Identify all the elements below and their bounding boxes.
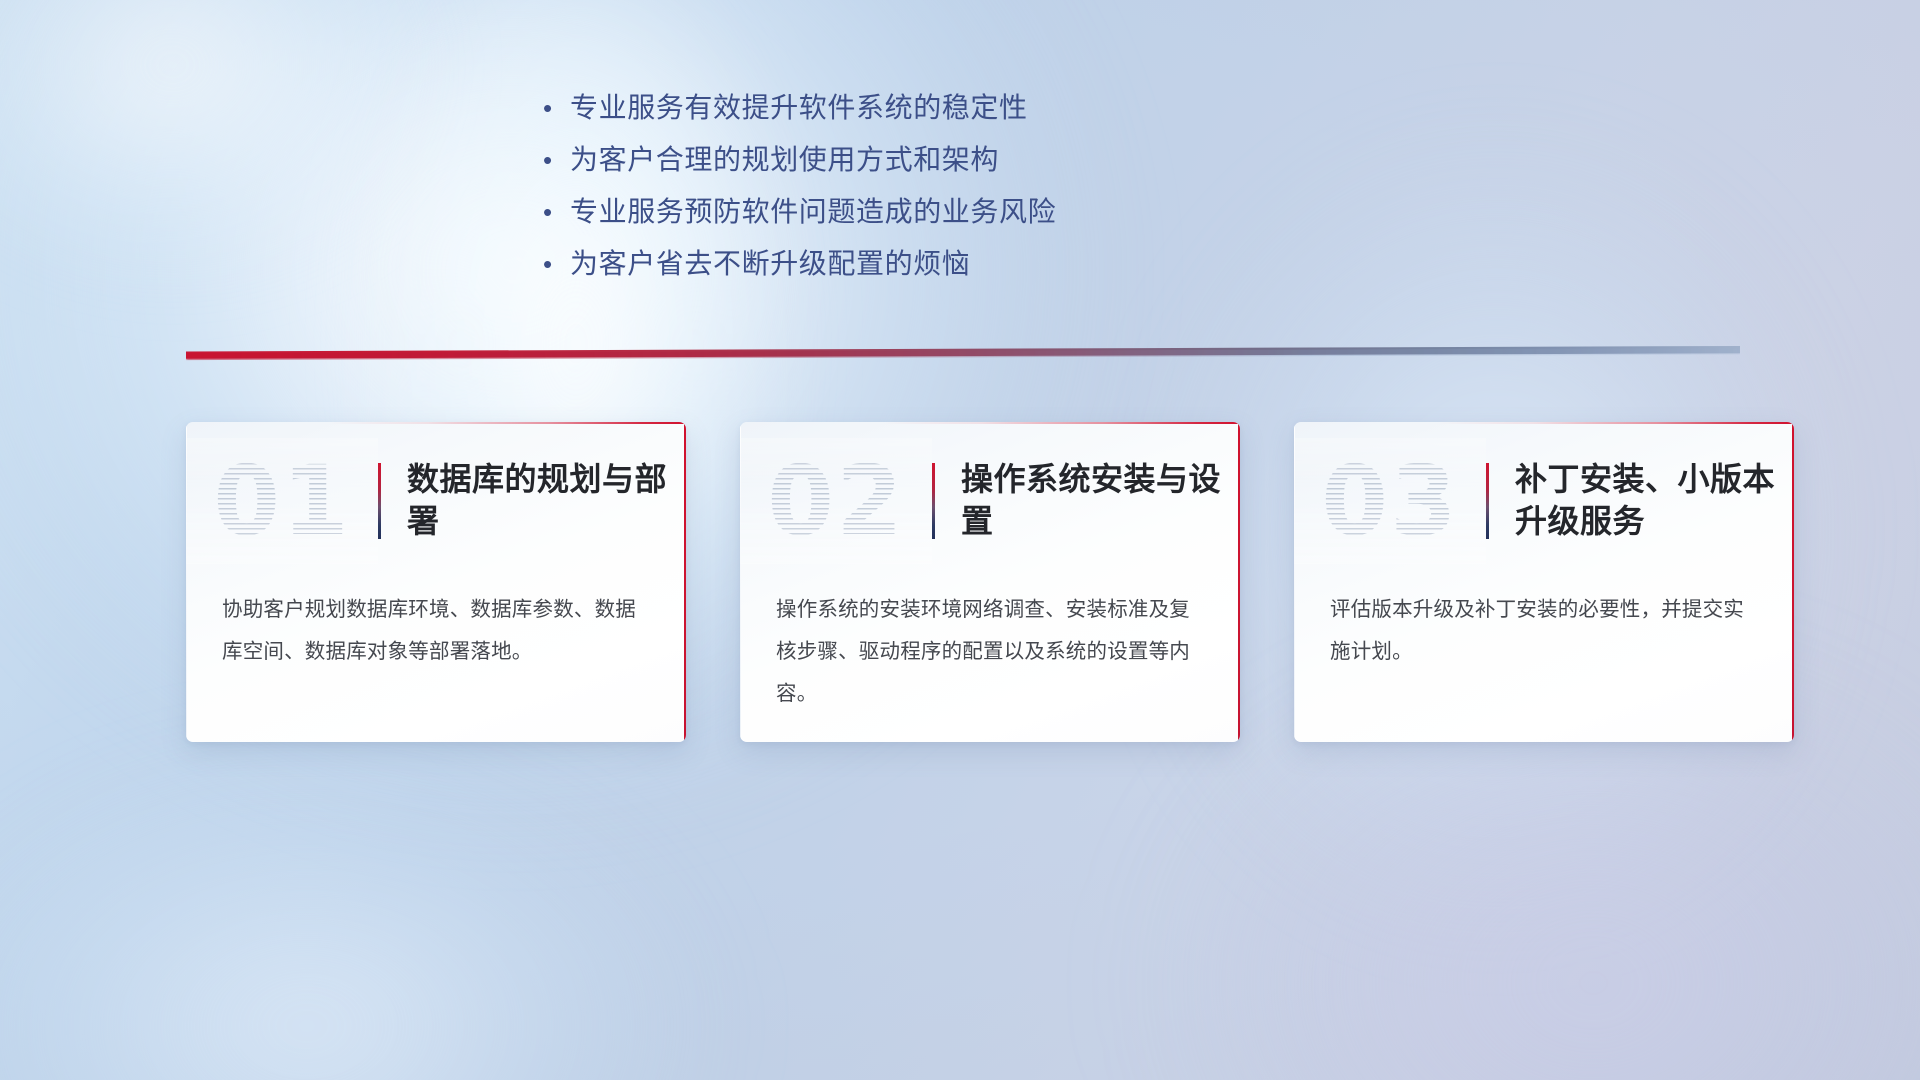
benefits-bullet-list: • 专业服务有效提升软件系统的稳定性 • 为客户合理的规划使用方式和架构 • 专… [536, 86, 1156, 294]
card-body-text: 操作系统的安装环境网络调查、安装标准及复核步骤、驱动程序的配置以及系统的设置等内… [776, 588, 1196, 715]
section-divider [186, 346, 1740, 362]
card-header: 03 补丁安装、小版本升级服务 [1294, 438, 1794, 564]
card-title-divider-bar [932, 463, 935, 539]
bullet-text: 为客户省去不断升级配置的烦恼 [570, 242, 970, 282]
card-body-text: 评估版本升级及补丁安装的必要性，并提交实施计划。 [1330, 588, 1750, 672]
card-top-accent-line [1434, 422, 1794, 424]
service-card-01[interactable]: 01 数据库的规划与部署 协助客户规划数据库环境、数据库参数、数据库空间、数据库… [186, 422, 686, 742]
bullet-dot-icon: • [536, 251, 570, 277]
bullet-dot-icon: • [536, 147, 570, 173]
card-title: 补丁安装、小版本升级服务 [1515, 459, 1794, 542]
card-title: 操作系统安装与设置 [961, 459, 1240, 542]
card-title-divider-bar [1486, 463, 1489, 539]
card-top-accent-line [326, 422, 686, 424]
card-number-watermark: 02 [740, 438, 932, 564]
bullet-text: 专业服务有效提升软件系统的稳定性 [570, 86, 1028, 126]
card-number-watermark: 03 [1294, 438, 1486, 564]
list-item: • 专业服务有效提升软件系统的稳定性 [536, 86, 1156, 138]
bullet-dot-icon: • [536, 199, 570, 225]
bullet-text: 专业服务预防软件问题造成的业务风险 [570, 190, 1056, 230]
card-top-accent-line [880, 422, 1240, 424]
bullet-text: 为客户合理的规划使用方式和架构 [570, 138, 999, 178]
service-card-03[interactable]: 03 补丁安装、小版本升级服务 评估版本升级及补丁安装的必要性，并提交实施计划。 [1294, 422, 1794, 742]
card-title-divider-bar [378, 463, 381, 539]
card-title: 数据库的规划与部署 [407, 459, 686, 542]
list-item: • 为客户合理的规划使用方式和架构 [536, 138, 1156, 190]
card-header: 02 操作系统安装与设置 [740, 438, 1240, 564]
card-number-watermark: 01 [186, 438, 378, 564]
card-body-text: 协助客户规划数据库环境、数据库参数、数据库空间、数据库对象等部署落地。 [222, 588, 642, 672]
service-card-list: 01 数据库的规划与部署 协助客户规划数据库环境、数据库参数、数据库空间、数据库… [0, 422, 1920, 752]
card-header: 01 数据库的规划与部署 [186, 438, 686, 564]
list-item: • 为客户省去不断升级配置的烦恼 [536, 242, 1156, 294]
service-card-02[interactable]: 02 操作系统安装与设置 操作系统的安装环境网络调查、安装标准及复核步骤、驱动程… [740, 422, 1240, 742]
list-item: • 专业服务预防软件问题造成的业务风险 [536, 190, 1156, 242]
bullet-dot-icon: • [536, 95, 570, 121]
